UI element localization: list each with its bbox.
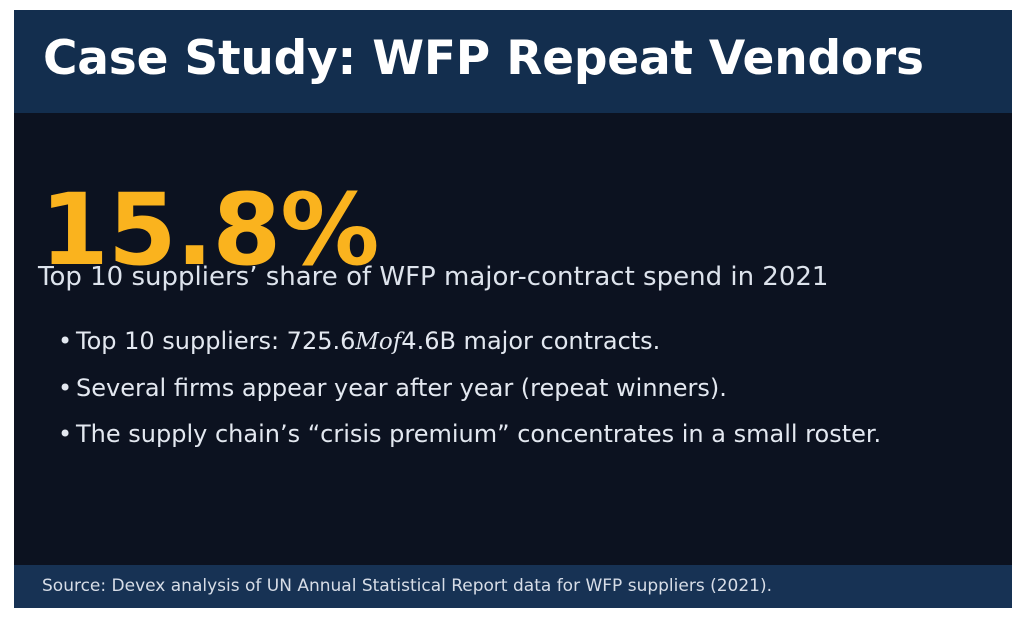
list-item: •The supply chain’s “crisis premium” con… xyxy=(38,411,978,457)
header-band: Case Study: WFP Repeat Vendors xyxy=(14,10,1012,113)
list-item: •Several firms appear year after year (r… xyxy=(38,365,978,411)
bullet-icon: • xyxy=(58,365,72,411)
bullet-list: •Top 10 suppliers: 725.6Mof4.6B major co… xyxy=(38,318,978,457)
slide-title: Case Study: WFP Repeat Vendors xyxy=(43,31,924,86)
list-item-text: Top 10 suppliers: 725.6 xyxy=(76,327,355,355)
bullet-icon: • xyxy=(58,411,72,457)
source-note: Source: Devex analysis of UN Annual Stat… xyxy=(42,576,772,596)
list-item-text: The supply chain’s “crisis premium” conc… xyxy=(76,420,881,448)
list-item-math: Mof xyxy=(355,329,401,355)
statistic-caption: Top 10 suppliers’ share of WFP major-con… xyxy=(38,262,828,292)
list-item-text: Several firms appear year after year (re… xyxy=(76,374,727,402)
slide-body: 15.8% Top 10 suppliers’ share of WFP maj… xyxy=(14,113,1012,565)
bullet-icon: • xyxy=(58,318,72,364)
slide-canvas: Case Study: WFP Repeat Vendors 15.8% Top… xyxy=(14,10,1012,608)
list-item: •Top 10 suppliers: 725.6Mof4.6B major co… xyxy=(38,318,978,365)
footer-band: Source: Devex analysis of UN Annual Stat… xyxy=(14,565,1012,608)
list-item-text-tail: 4.6B major contracts. xyxy=(401,327,660,355)
